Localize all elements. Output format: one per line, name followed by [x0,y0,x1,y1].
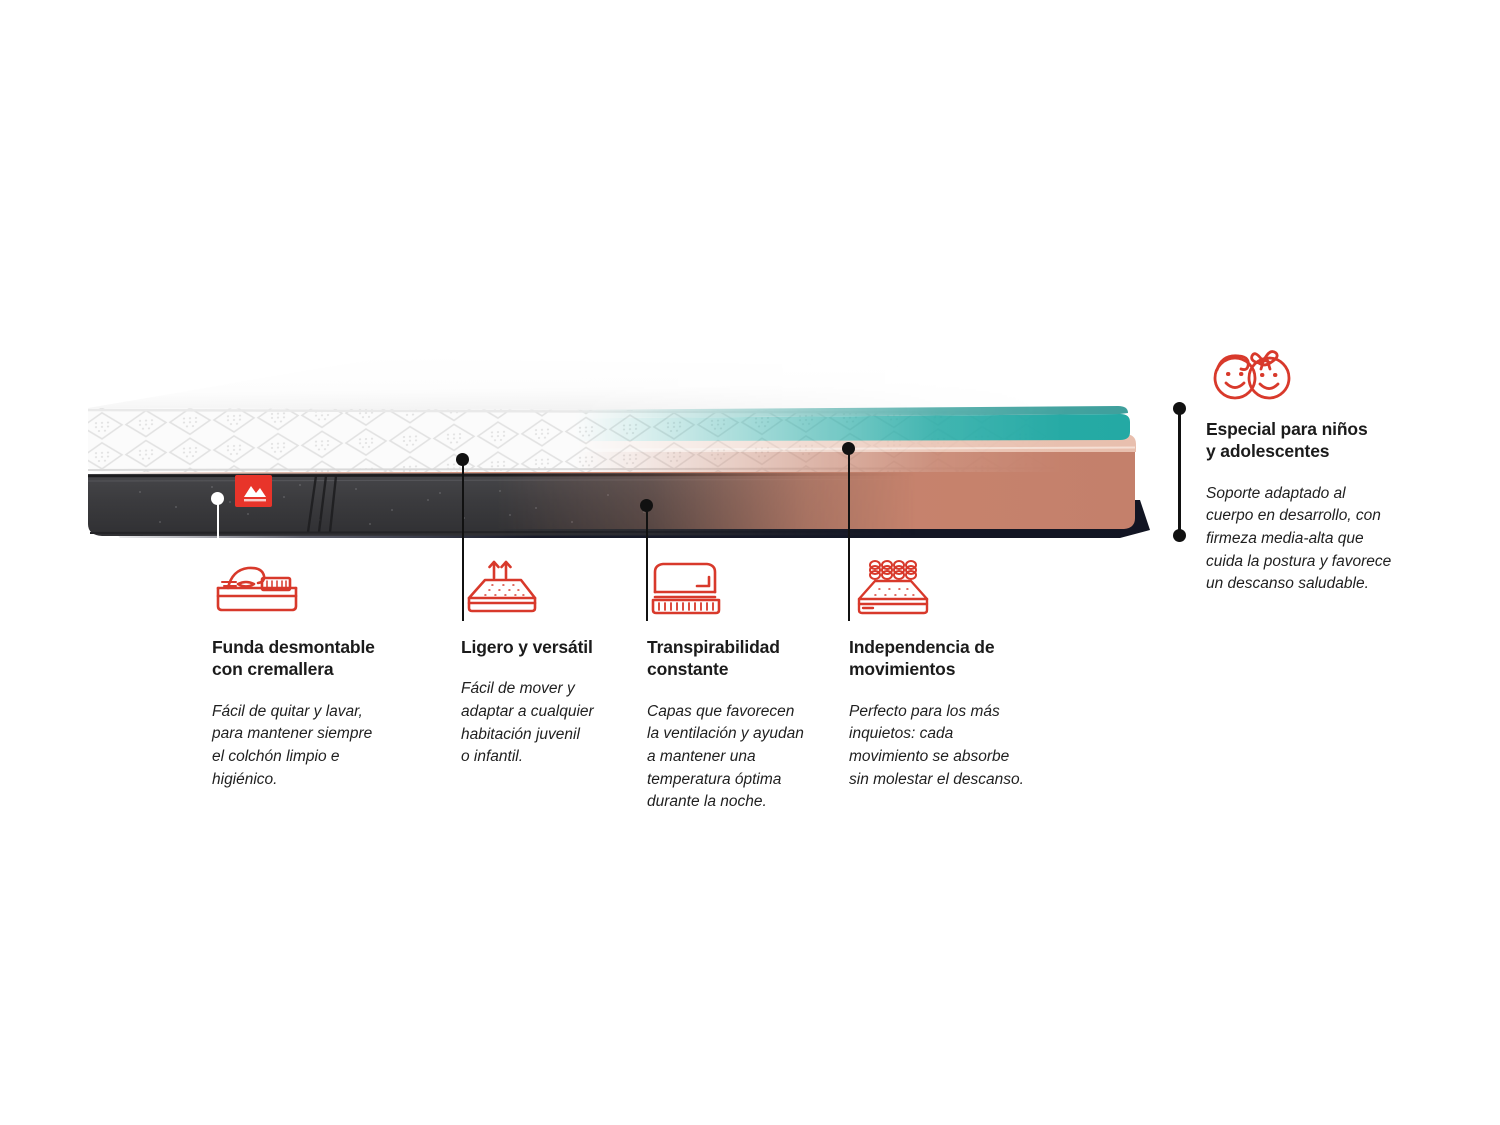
feature-body: Capas que favorecen la ventilación y ayu… [647,701,827,814]
callout-body: Soporte adaptado al cuerpo en desarrollo… [1206,483,1431,596]
two-kids-faces-icon [1206,348,1431,404]
callout-title: Especial para niños y adolescentes [1206,418,1431,463]
breathability-mattress-icon [647,558,827,620]
leader-line-cover-zipper [217,498,219,552]
feature-title: Funda desmontable con cremallera [212,636,412,681]
feature-breathability: Transpirabilidad constante Capas que fav… [647,558,827,814]
infographic-stage: Funda desmontable con cremallera Fácil d… [0,0,1500,1125]
feature-title: Transpirabilidad constante [647,636,827,681]
bracket-line [1178,408,1181,536]
feature-body: Fácil de mover y adaptar a cualquier hab… [461,678,641,769]
feature-body: Fácil de quitar y lavar, para mantener s… [212,701,412,792]
lightweight-mattress-icon [461,558,641,620]
feature-title: Ligero y versátil [461,636,641,658]
callout-kids-and-teens: Especial para niños y adolescentes Sopor… [1206,348,1431,596]
mattress-height-bracket [1173,402,1186,542]
feature-lightweight: Ligero y versátil Fácil de mover y adapt… [461,558,641,769]
bracket-cap-bottom [1173,529,1186,542]
feature-title: Independencia de movimientos [849,636,1049,681]
feature-cover-zipper: Funda desmontable con cremallera Fácil d… [212,558,412,791]
feature-body: Perfecto para los más inquietos: cada mo… [849,701,1049,792]
mattress-cutaway-illustration [80,352,1180,557]
zipper-cover-icon [212,558,412,620]
feature-motion-independence: Independencia de movimientos Perfecto pa… [849,558,1049,791]
springs-mattress-icon [849,558,1049,620]
